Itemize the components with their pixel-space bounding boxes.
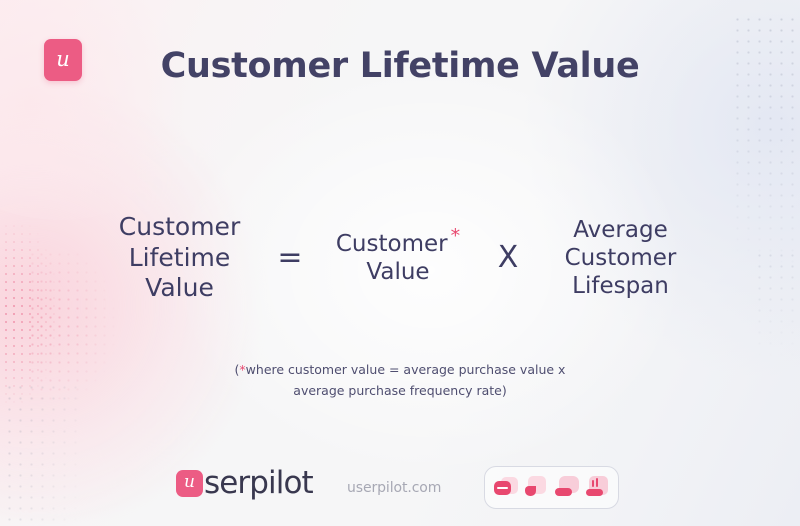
formula-row: Customer Lifetime Value = Customer* Valu… — [0, 212, 800, 304]
formula-term-avg-customer-lifespan: Average Customer Lifespan — [533, 216, 708, 300]
award-badge-2-front — [525, 486, 536, 496]
formula-term-clv-line-3: Value — [92, 273, 267, 304]
award-badge-2-icon — [524, 476, 548, 500]
page-title: Customer Lifetime Value — [0, 46, 800, 86]
footer-logo-icon: u — [176, 470, 203, 497]
footnote-line-2: average purchase frequency rate) — [0, 381, 800, 402]
award-badge-4-bar-2 — [596, 478, 598, 487]
footnote-line-1-text: where customer value = average purchase … — [246, 362, 566, 377]
award-badge-4-icon — [585, 476, 609, 500]
footer-brand-lockup: u serpilot — [176, 468, 313, 499]
formula-footnote: (*where customer value = average purchas… — [0, 360, 800, 401]
formula-operator-multiply: X — [483, 240, 533, 275]
award-badge-3-front — [555, 488, 572, 496]
infographic-canvas: u Customer Lifetime Value Customer Lifet… — [0, 0, 800, 526]
footnote-line-1: (*where customer value = average purchas… — [0, 360, 800, 381]
formula-term-customer-value: Customer* Value — [313, 230, 483, 286]
formula-term-customer-value-word: Customer — [336, 231, 448, 257]
formula-term-lifespan-line-2: Customer — [533, 244, 708, 272]
formula-asterisk-marker: * — [451, 225, 461, 247]
formula-term-clv-line-1: Customer — [92, 212, 267, 243]
award-badge-3-icon — [555, 476, 579, 500]
formula-term-customer-value-line-2: Value — [313, 258, 483, 286]
formula-term-lifespan-line-3: Lifespan — [533, 272, 708, 300]
formula-term-clv: Customer Lifetime Value — [92, 212, 267, 304]
award-badge-4-front — [586, 489, 603, 496]
award-badge-1-icon — [494, 476, 518, 500]
formula-operator-equals: = — [267, 240, 313, 275]
formula-term-customer-value-line-1: Customer* — [313, 230, 483, 258]
footer-website-url: userpilot.com — [347, 480, 441, 496]
footer-wordmark: serpilot — [204, 468, 313, 499]
footer-logo-u-glyph: u — [184, 474, 195, 491]
formula-term-clv-line-2: Lifetime — [92, 243, 267, 274]
award-badge-strip — [484, 466, 619, 509]
formula-term-lifespan-line-1: Average — [533, 216, 708, 244]
award-badge-4-bar-1 — [592, 480, 594, 487]
dot-pattern-gray-bottom-left — [4, 382, 84, 522]
award-badge-1-bar — [497, 487, 508, 489]
